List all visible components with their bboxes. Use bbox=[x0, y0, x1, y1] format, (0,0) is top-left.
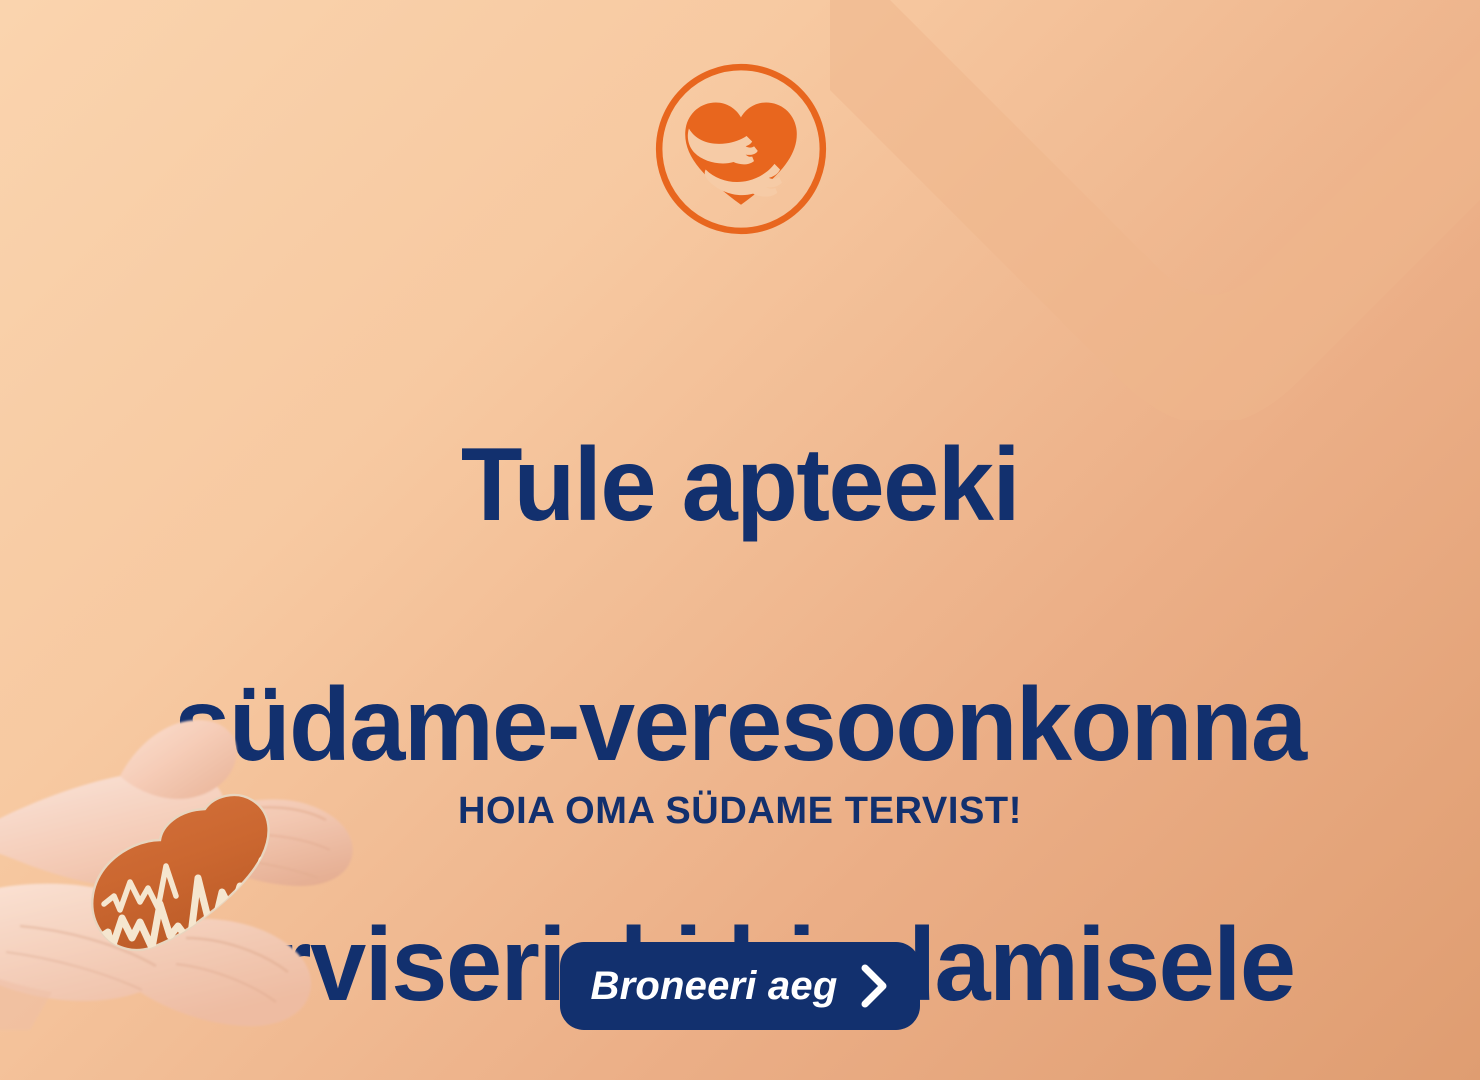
promo-banner: Tule apteeki südame-veresoonkonna tervis… bbox=[0, 0, 1480, 1080]
chevron-right-icon bbox=[859, 963, 889, 1009]
heart-embrace-logo bbox=[648, 56, 834, 242]
headline-line-2: südame-veresoonkonna bbox=[22, 665, 1458, 785]
book-appointment-button[interactable]: Broneeri aeg bbox=[560, 942, 920, 1030]
subtitle: HOIA OMA SÜDAME TERVIST! bbox=[0, 790, 1480, 833]
book-appointment-label: Broneeri aeg bbox=[591, 964, 838, 1009]
headline-line-1: Tule apteeki bbox=[22, 425, 1458, 545]
